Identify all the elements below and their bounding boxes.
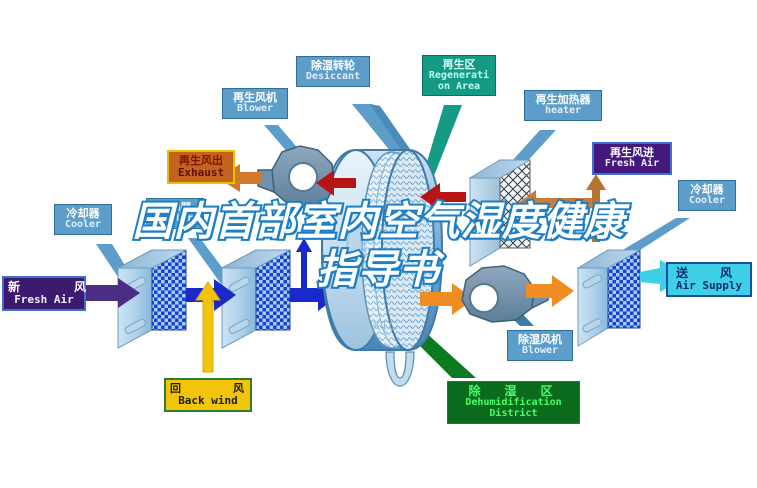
label-cooler-right[interactable]: 冷却器 Cooler — [678, 180, 736, 211]
label-back-wind-en: Back wind — [170, 395, 246, 407]
label-air-supply-en: Air Supply — [672, 280, 746, 292]
arrow-back-wind — [196, 282, 220, 372]
label-dehum-district-en2: District — [452, 409, 575, 420]
label-air-supply-cn: 送 风 — [672, 267, 746, 280]
arrow-cooler-up — [296, 238, 312, 290]
label-regen-fresh-air[interactable]: 再生风进 Fresh Air — [592, 142, 672, 175]
label-fresh-air-left-cn: 新 风 — [8, 281, 80, 294]
wheel-watermark: XTC — [372, 318, 398, 333]
label-dehum-blower-en: Blower — [512, 346, 568, 357]
label-regen-blower[interactable]: 再生风机 Blower — [222, 88, 288, 119]
label-cooler-mid-en: Cooler — [151, 214, 199, 225]
label-air-supply[interactable]: 送 风 Air Supply — [666, 262, 752, 297]
label-cooler-mid[interactable]: 冷却器 Cooler — [146, 198, 204, 229]
label-regeneration-area-en2: on Area — [426, 82, 492, 93]
label-fresh-air-left-en: Fresh Air — [8, 294, 80, 306]
label-dehum-blower[interactable]: 除湿风机 Blower — [507, 330, 573, 361]
regeneration-heater — [470, 160, 530, 266]
dehumidifier-schematic: XTC — [0, 0, 757, 488]
diagram-canvas: XTC — [0, 0, 757, 488]
label-fresh-air-left[interactable]: 新 风 Fresh Air — [2, 276, 86, 311]
label-desiccant-wheel-en: Desiccant — [301, 72, 365, 83]
label-cooler-right-en: Cooler — [683, 196, 731, 207]
cooler-coil-2 — [222, 250, 290, 348]
label-regen-heater-en: heater — [529, 106, 597, 117]
label-desiccant-wheel[interactable]: 除湿转轮 Desiccant — [296, 56, 370, 87]
label-regen-blower-en: Blower — [227, 104, 283, 115]
label-dehumidification-district[interactable]: 除 湿 区 Dehumidification District — [447, 381, 580, 424]
label-back-wind[interactable]: 回 风 Back wind — [164, 378, 252, 412]
label-exhaust-en: Exhaust — [173, 167, 229, 179]
label-regen-heater[interactable]: 再生加热器 heater — [524, 90, 602, 121]
label-exhaust[interactable]: 再生风出 Exhaust — [167, 150, 235, 184]
label-cooler-left-en: Cooler — [59, 220, 107, 231]
label-cooler-left[interactable]: 冷却器 Cooler — [54, 204, 112, 235]
label-regen-fresh-air-en: Fresh Air — [598, 159, 666, 170]
label-regeneration-area[interactable]: 再生区 Regenerati on Area — [422, 55, 496, 96]
supply-coil — [578, 250, 640, 346]
label-dehum-district-cn: 除 湿 区 — [452, 385, 575, 398]
regeneration-blower — [258, 146, 334, 208]
